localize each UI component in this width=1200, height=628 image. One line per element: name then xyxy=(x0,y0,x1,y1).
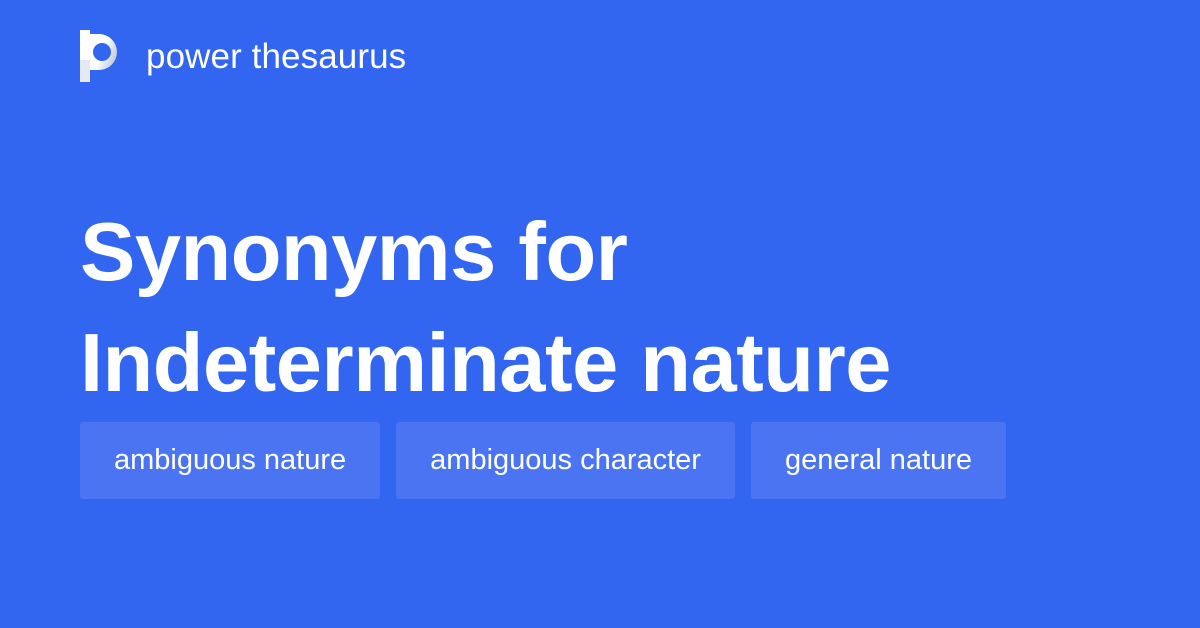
power-thesaurus-b-logo-icon xyxy=(80,30,126,82)
brand-name: power thesaurus xyxy=(146,39,406,74)
page-title: Synonyms for Indeterminate nature xyxy=(80,196,1120,418)
synonym-chip-list: ambiguous nature ambiguous character gen… xyxy=(80,422,1140,499)
page-title-line-1: Synonyms for xyxy=(80,196,1120,307)
brand-header[interactable]: power thesaurus xyxy=(80,28,406,84)
synonym-chip[interactable]: ambiguous character xyxy=(396,422,735,499)
synonym-chip[interactable]: general nature xyxy=(751,422,1006,499)
page-title-line-2: Indeterminate nature xyxy=(80,307,1120,418)
og-share-card: power thesaurus Synonyms for Indetermina… xyxy=(0,0,1200,628)
synonym-chip[interactable]: ambiguous nature xyxy=(80,422,380,499)
